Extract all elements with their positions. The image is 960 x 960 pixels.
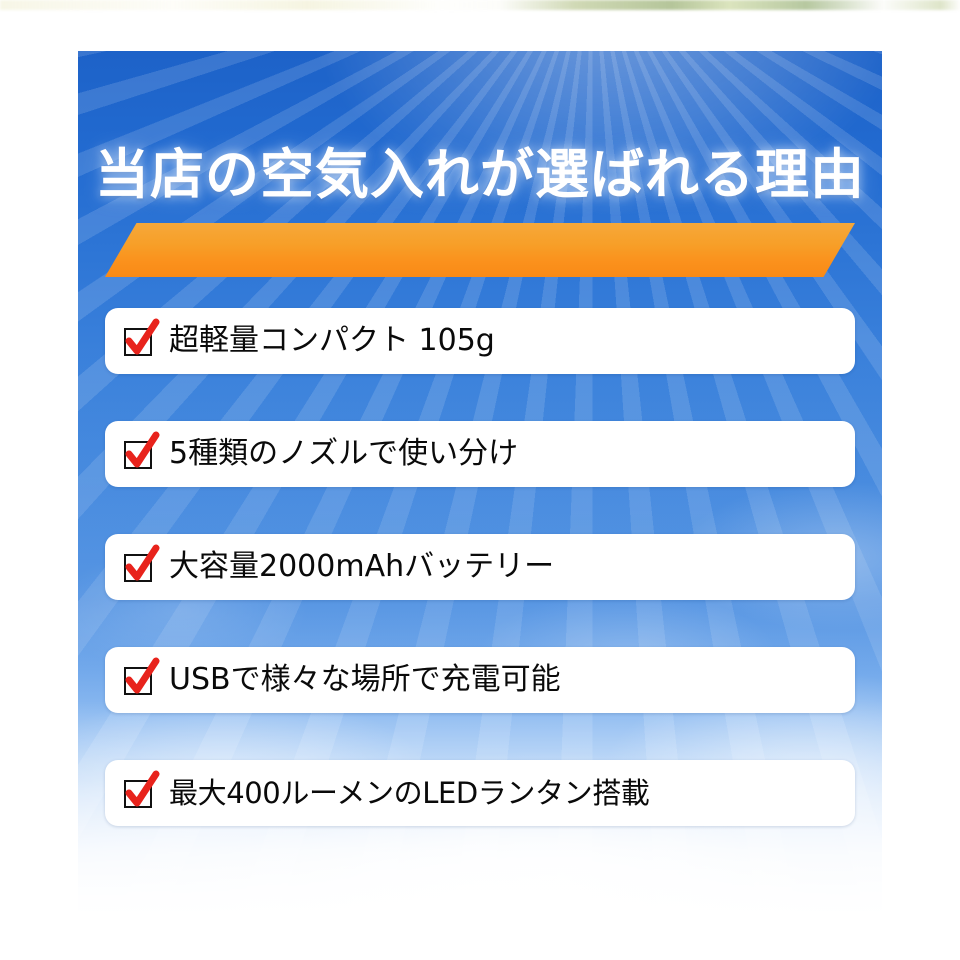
feature-card: USBで様々な場所で充電可能 xyxy=(105,647,855,713)
feature-card: 大容量2000mAhバッテリー xyxy=(105,534,855,600)
headline-block: 当店の空気入れが選ばれる理由 xyxy=(78,147,882,277)
check-icon xyxy=(123,550,157,584)
check-icon xyxy=(123,437,157,471)
feature-card: 最大400ルーメンのLEDランタン搭載 xyxy=(105,760,855,826)
check-icon xyxy=(123,663,157,697)
orange-title-banner xyxy=(105,223,855,277)
feature-label: 最大400ルーメンのLEDランタン搭載 xyxy=(169,779,649,808)
feature-label: USBで様々な場所で充電可能 xyxy=(169,665,561,695)
top-image-remnant-strip xyxy=(0,0,960,10)
feature-label: 大容量2000mAhバッテリー xyxy=(169,552,554,582)
sky-background-panel: 当店の空気入れが選ばれる理由 超軽量コンパクト 105g 5種類のノズルで使い分… xyxy=(78,51,882,911)
feature-label: 5種類のノズルで使い分け xyxy=(169,439,518,469)
check-icon xyxy=(123,776,157,810)
feature-card: 超軽量コンパクト 105g xyxy=(105,308,855,374)
cloud-decoration xyxy=(138,811,838,911)
feature-list: 超軽量コンパクト 105g 5種類のノズルで使い分け 大容量2000mAhバッテ… xyxy=(105,308,855,826)
page-title: 当店の空気入れが選ばれる理由 xyxy=(78,147,882,204)
feature-card: 5種類のノズルで使い分け xyxy=(105,421,855,487)
check-icon xyxy=(123,324,157,358)
feature-label: 超軽量コンパクト 105g xyxy=(169,326,495,356)
